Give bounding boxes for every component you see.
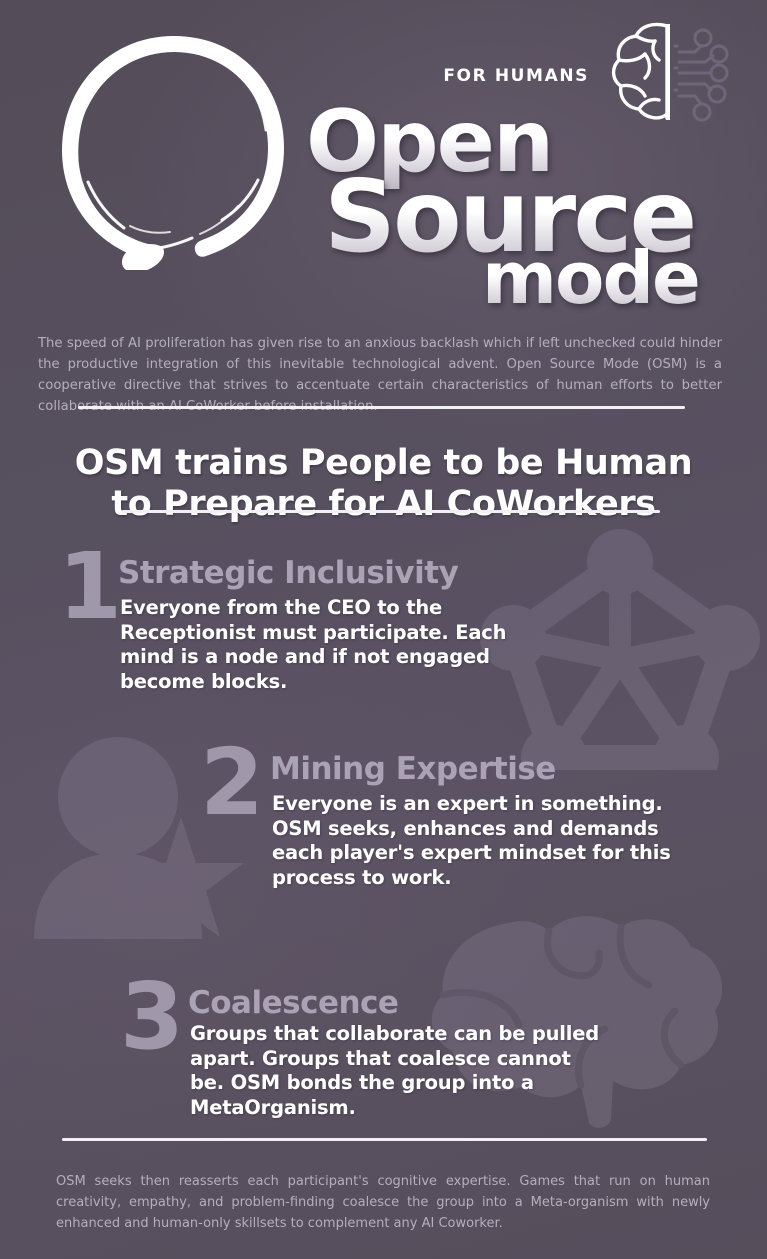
intro-paragraph: The speed of AI proliferation has given … (38, 333, 722, 417)
headline-line-1: OSM trains People to be Human (75, 443, 692, 483)
section-title: Strategic Inclusivity (118, 556, 458, 590)
section-title: Mining Expertise (270, 752, 556, 786)
tagline-for-humans: FOR HUMANS (443, 66, 589, 86)
brain-circuit-icon (609, 18, 731, 126)
divider-top (78, 406, 685, 409)
section-number: 2 (200, 744, 260, 822)
section-body: Everyone is an expert in something. OSM … (272, 792, 692, 890)
divider-headline (122, 510, 660, 513)
logo-word-mode: mode (482, 236, 699, 320)
section-title: Coalescence (188, 986, 398, 1020)
page-title: OSM trains People to be Human to Prepare… (0, 443, 767, 525)
headline-line-2: to Prepare for AI CoWorkers (111, 484, 655, 524)
logo-wordmark: Open Source mode (180, 100, 740, 310)
infographic-poster: Open Source mode FOR HUMANS (0, 0, 767, 1259)
divider-bottom (62, 1138, 707, 1141)
section-number: 1 (58, 548, 118, 626)
section-body: Groups that collaborate can be pulled ap… (190, 1022, 610, 1120)
section-number: 3 (120, 978, 180, 1056)
poster-header: Open Source mode FOR HUMANS (0, 0, 767, 310)
section-body: Everyone from the CEO to the Receptionis… (120, 596, 540, 694)
footer-paragraph: OSM seeks then reasserts each participan… (56, 1171, 710, 1234)
